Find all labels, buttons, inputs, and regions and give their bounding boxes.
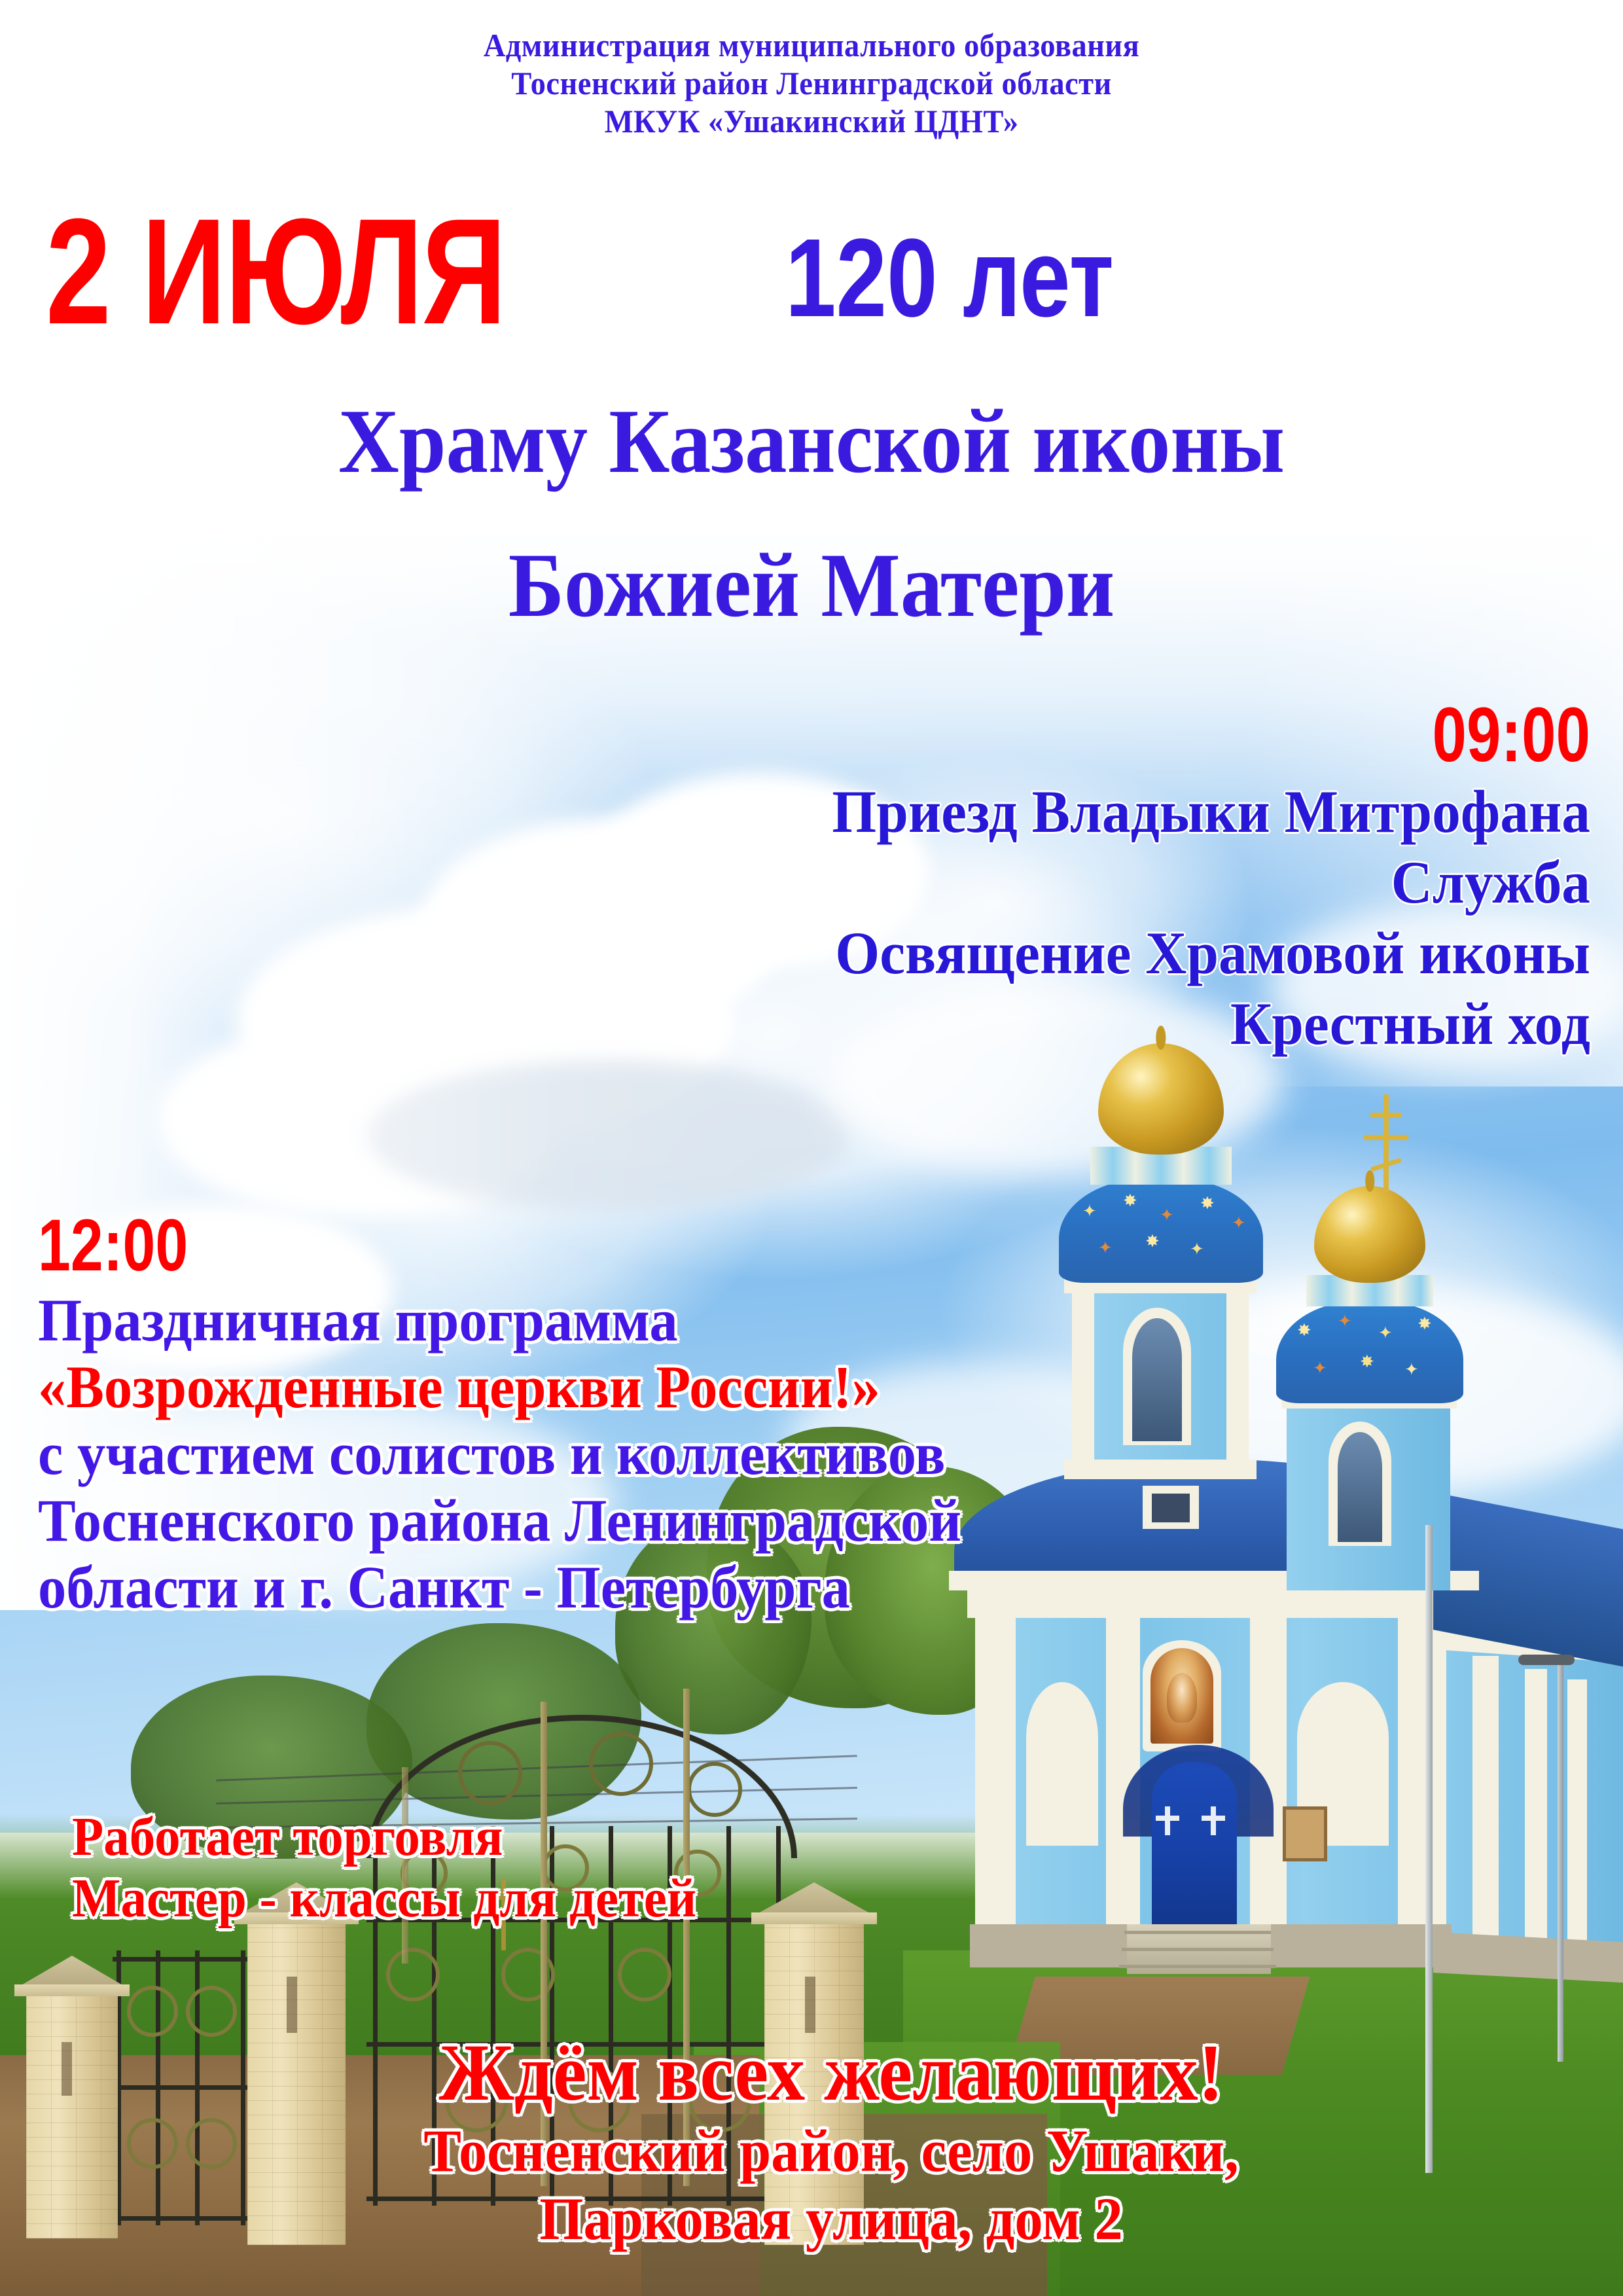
footer-block: Ждём всех желающих! Тосненский район, се… [236,2029,1427,2253]
dormer-window [1152,1494,1190,1522]
header-line-2: Тосненский район Ленинградской области [57,64,1566,102]
noon-item-2: «Возрожденные церкви России!» [38,1354,1084,1420]
pillar-cap-plate [14,1984,130,1996]
pillar-slot [287,1977,297,2033]
address-line-1: Тосненский район, село Ушаки, [272,2117,1391,2185]
drum-star-icon: ✦ [1232,1215,1246,1232]
drum-star-icon: ✦ [1378,1325,1393,1342]
tower-window [1338,1432,1382,1542]
address-line-2: Парковая улица, дом 2 [272,2185,1391,2253]
golden-onion-dome [1314,1186,1425,1283]
step-edge [1119,1965,1276,1968]
door-cross-icon [1165,1806,1170,1835]
call-to-action: Ждём всех желающих! [272,2029,1391,2117]
drum-star-icon: ✸ [1297,1322,1311,1339]
event-date: 2 ИЮЛЯ [46,196,505,347]
noon-item-4: Тосненского района Ленинградской [38,1487,1084,1554]
kazan-icon [1150,1648,1213,1744]
drum-star-icon: ✦ [1338,1313,1352,1330]
header-line-1: Администрация муниципального образования [57,26,1566,64]
extras-line-1: Работает торговля [72,1806,1056,1868]
drum-star-icon: ✸ [1360,1354,1374,1371]
morning-item-2: Служба [478,847,1591,918]
noon-item-5: области и г. Санкт - Петербурга [38,1554,1084,1621]
drum-star-icon: ✸ [1418,1316,1432,1333]
noon-item-3: с участием солистов и коллективов [38,1420,1084,1487]
noon-time: 12:00 [38,1204,928,1287]
pillar-cap [16,1956,128,1988]
church-door [1152,1762,1237,1931]
extras-line-2: Мастер - классы для детей [72,1868,1056,1929]
page-title-line-1: Храму Казанской иконы [65,393,1558,491]
morning-time: 09:00 [653,694,1590,776]
drum-star-icon: ✦ [1190,1241,1204,1258]
street-lamp-pole [1558,1656,1563,2062]
step-edge [1124,1931,1271,1934]
morning-item-4: Крестный ход [478,988,1591,1059]
pillar-slot [805,1977,815,2033]
step-edge [1122,1948,1274,1951]
morning-item-3: Освящение Храмовой иконы [478,918,1591,988]
pillar-slot [62,2042,72,2096]
gate-scroll-ornament [458,1741,522,1805]
door-cross-icon [1202,1816,1225,1821]
gate-scroll-ornament [589,1732,653,1796]
door-cross-icon [1211,1806,1216,1835]
pilaster [1567,1679,1587,1954]
pilaster [1525,1669,1547,1957]
drum-star-icon: ✦ [1404,1361,1419,1378]
drum-star-icon: ✦ [1313,1360,1327,1377]
morning-schedule-block: 09:00 Приезд Владыки Митрофана Служба Ос… [419,694,1590,1059]
pilaster [1472,1656,1499,1957]
door-cross-icon [1156,1816,1179,1821]
header-line-3: МКУК «Ушакинский ЦДНТ» [57,102,1566,140]
street-lamp-head [1518,1655,1575,1665]
pilaster [1226,1289,1249,1461]
noon-item-1: Праздничная программа [38,1287,1084,1354]
poster-canvas: ✦ ✸ ✦ ✸ ✦ ✸ ✦ ✦ ✸ ✦ ✦ ✸ ✦ ✸ ✦ [0,0,1623,2296]
extras-block: Работает торговля Мастер - классы для де… [72,1806,1119,1929]
page-title-line-2: Божией Матери [65,537,1558,635]
noon-schedule-block: 12:00 Праздничная программа «Возрожденны… [38,1204,1150,1621]
pilaster [1398,1610,1446,1964]
organization-header: Администрация муниципального образования… [57,26,1566,140]
notice-board [1283,1806,1327,1861]
orthodox-cross-icon [1360,1094,1412,1193]
gate-pillar [26,1990,118,2238]
drum-star-icon: ✸ [1200,1195,1215,1212]
morning-item-1: Приезд Владыки Митрофана [478,776,1591,847]
anniversary-years: 120 лет [785,223,1114,334]
drum-star-icon: ✦ [1160,1207,1174,1224]
wicket-grill [113,1950,250,2225]
